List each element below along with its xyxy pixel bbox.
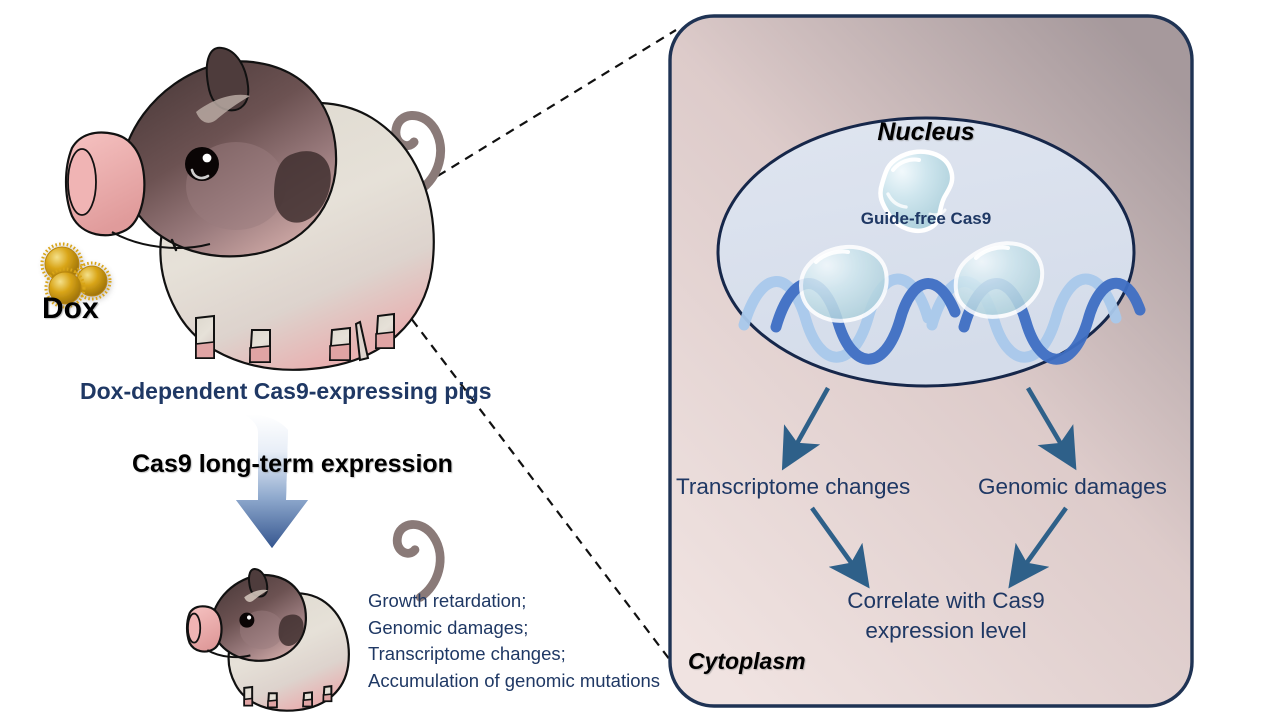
outcome-item: Transcriptome changes; xyxy=(368,641,660,668)
outcome-item: Growth retardation; xyxy=(368,588,660,615)
cytoplasm-label: Cytoplasm xyxy=(688,648,806,675)
outcome-item: Genomic damages; xyxy=(368,615,660,642)
figure-canvas: Dox Dox-dependent Cas9-expressing pigs C… xyxy=(0,0,1269,713)
nucleus-label: Nucleus xyxy=(718,118,1134,147)
outcome-item: Accumulation of genomic mutations xyxy=(368,668,660,695)
nucleus-text-block: Nucleus Guide-free Cas9 xyxy=(718,0,1134,400)
long-term-expression-arrow xyxy=(236,414,308,548)
dox-label: Dox xyxy=(42,292,99,326)
pig-caption: Dox-dependent Cas9-expressing pigs xyxy=(80,378,492,405)
long-term-expression-caption: Cas9 long-term expression xyxy=(132,450,453,479)
conclusion-line-1: Correlate with Cas9 xyxy=(826,586,1066,616)
pig-large xyxy=(66,48,441,370)
conclusion-line-2: expression level xyxy=(826,616,1066,646)
branch-transcriptome-changes: Transcriptome changes xyxy=(676,474,910,500)
conclusion-text: Correlate with Cas9 expression level xyxy=(826,586,1066,646)
outcome-list: Growth retardation; Genomic damages; Tra… xyxy=(368,588,660,694)
guide-free-cas9-label: Guide-free Cas9 xyxy=(718,209,1134,229)
branch-genomic-damages: Genomic damages xyxy=(978,474,1167,500)
